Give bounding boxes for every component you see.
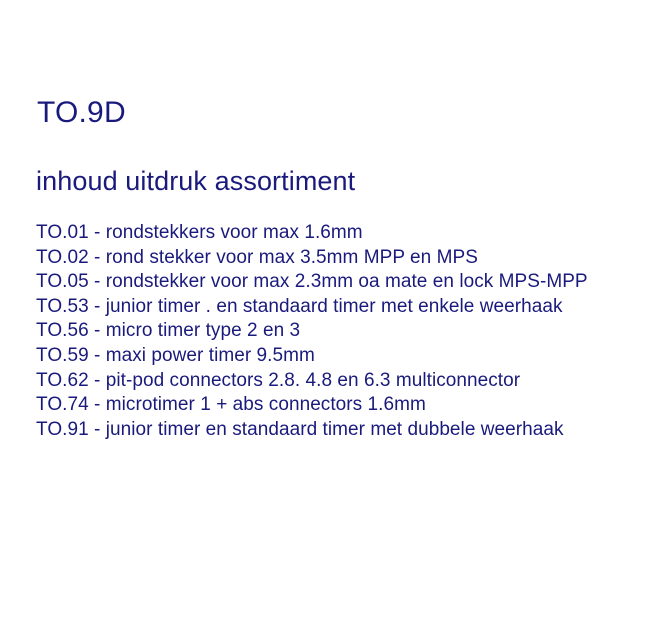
list-item-separator: - <box>89 419 106 440</box>
list-item-code: TO.02 <box>36 247 89 268</box>
list-item: TO.05 - rondstekker voor max 2.3mm oa ma… <box>36 270 636 295</box>
list-item: TO.01 - rondstekkers voor max 1.6mm <box>36 221 636 246</box>
document-page: TO.9D inhoud uitdruk assortiment TO.01 -… <box>0 0 650 640</box>
list-item-code: TO.62 <box>36 370 89 391</box>
list-item-description: junior timer . en standaard timer met en… <box>106 296 563 317</box>
list-item: TO.74 - microtimer 1 + abs connectors 1.… <box>36 393 636 418</box>
list-item-description: rond stekker voor max 3.5mm MPP en MPS <box>106 247 478 268</box>
list-item-code: TO.56 <box>36 320 89 341</box>
list-item-separator: - <box>89 394 106 415</box>
list-item-separator: - <box>89 370 106 391</box>
list-item-code: TO.01 <box>36 222 89 243</box>
list-item-description: rondstekkers voor max 1.6mm <box>106 222 363 243</box>
contents-list: TO.01 - rondstekkers voor max 1.6mm TO.0… <box>36 221 636 442</box>
list-item-description: rondstekker voor max 2.3mm oa mate en lo… <box>106 271 588 292</box>
list-item-code: TO.53 <box>36 296 89 317</box>
list-item-separator: - <box>89 345 106 366</box>
list-item-code: TO.91 <box>36 419 89 440</box>
list-item-separator: - <box>89 247 106 268</box>
document-code-title: TO.9D <box>37 97 126 129</box>
list-item: TO.91 - junior timer en standaard timer … <box>36 418 636 443</box>
list-item-separator: - <box>89 320 106 341</box>
list-item-separator: - <box>89 296 106 317</box>
list-item: TO.62 - pit-pod connectors 2.8. 4.8 en 6… <box>36 369 636 394</box>
list-item-description: junior timer en standaard timer met dubb… <box>106 419 564 440</box>
list-item: TO.02 - rond stekker voor max 3.5mm MPP … <box>36 246 636 271</box>
list-item-separator: - <box>89 222 106 243</box>
list-item-description: microtimer 1 + abs connectors 1.6mm <box>106 394 426 415</box>
list-item: TO.56 - micro timer type 2 en 3 <box>36 319 636 344</box>
list-item-description: maxi power timer 9.5mm <box>106 345 315 366</box>
list-item-description: pit-pod connectors 2.8. 4.8 en 6.3 multi… <box>106 370 520 391</box>
list-item-description: micro timer type 2 en 3 <box>106 320 300 341</box>
list-item: TO.53 - junior timer . en standaard time… <box>36 295 636 320</box>
list-item-code: TO.59 <box>36 345 89 366</box>
document-subheading: inhoud uitdruk assortiment <box>36 166 355 196</box>
list-item-code: TO.74 <box>36 394 89 415</box>
list-item: TO.59 - maxi power timer 9.5mm <box>36 344 636 369</box>
list-item-code: TO.05 <box>36 271 89 292</box>
list-item-separator: - <box>89 271 106 292</box>
